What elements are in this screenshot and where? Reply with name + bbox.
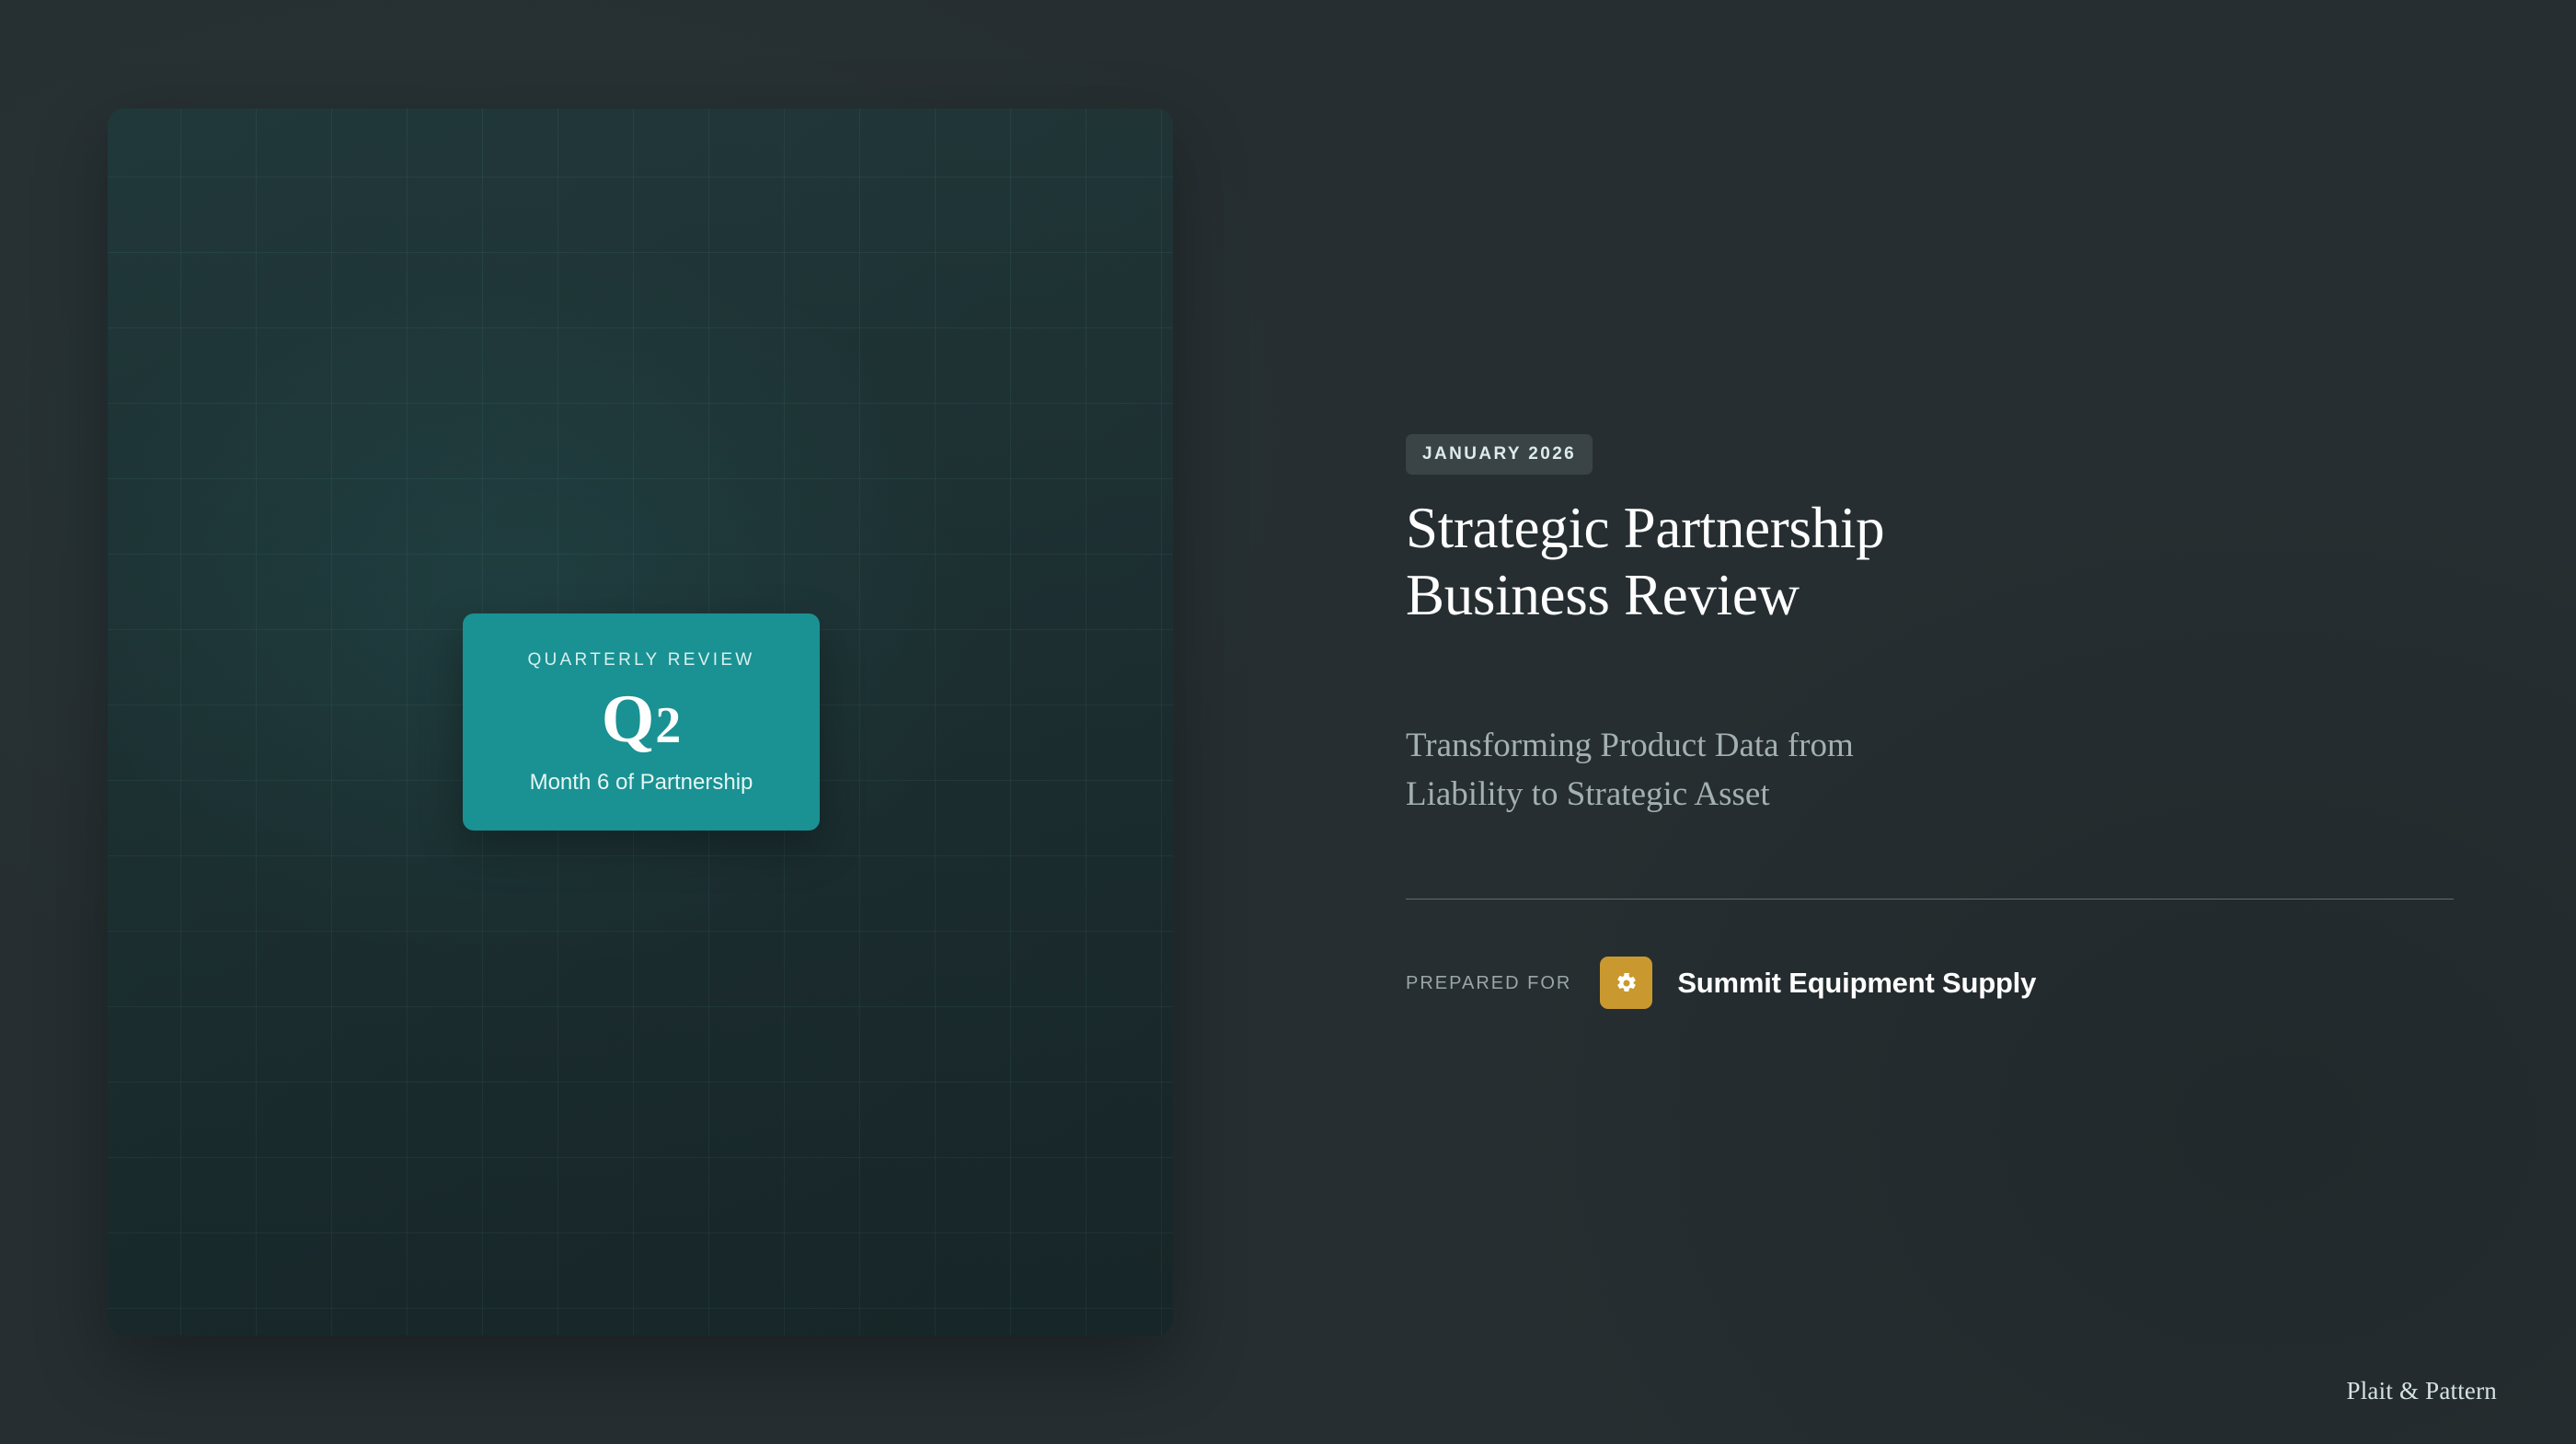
page-subtitle-line-2: Liability to Strategic Asset	[1406, 775, 1770, 813]
title-slide: QUARTERLY REVIEW Q2 Month 6 of Partnersh…	[0, 0, 2576, 1444]
footer-brand: Plait & Pattern	[2347, 1377, 2497, 1405]
prepared-for-row: PREPARED FOR Summit Equipment Supply	[1406, 957, 2036, 1009]
gear-icon	[1616, 972, 1638, 994]
page-subtitle: Transforming Product Data from Liability…	[1406, 722, 2326, 819]
page-title-line-1: Strategic Partnership	[1406, 496, 1884, 560]
prepared-for-label: PREPARED FOR	[1406, 974, 1571, 992]
quarter-card: QUARTERLY REVIEW Q2 Month 6 of Partnersh…	[463, 613, 820, 831]
quarter-card-eyebrow: QUARTERLY REVIEW	[527, 651, 754, 669]
date-badge: JANUARY 2026	[1406, 434, 1593, 475]
title-content-column: JANUARY 2026 Strategic Partnership Busin…	[1406, 0, 2464, 1444]
client-name: Summit Equipment Supply	[1677, 968, 2036, 997]
client-logo-badge	[1600, 957, 1652, 1009]
quarter-visual-panel: QUARTERLY REVIEW Q2 Month 6 of Partnersh…	[108, 109, 1173, 1335]
quarter-card-value: Q2	[602, 685, 682, 753]
quarter-number: 2	[655, 700, 681, 751]
quarter-card-subtext: Month 6 of Partnership	[530, 772, 753, 794]
page-title: Strategic Partnership Business Review	[1406, 495, 2464, 629]
page-subtitle-line-1: Transforming Product Data from	[1406, 727, 1854, 764]
page-title-line-2: Business Review	[1406, 563, 1800, 627]
section-divider	[1406, 899, 2454, 900]
quarter-letter: Q	[602, 685, 655, 753]
